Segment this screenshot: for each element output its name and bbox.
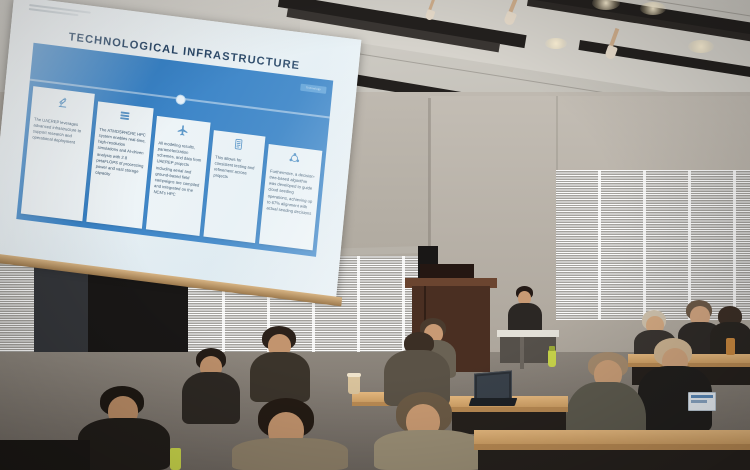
window-blinds-right — [556, 170, 750, 320]
slide-card: The UAEREP leverages advanced infrastruc… — [21, 86, 95, 221]
desk-row-front — [474, 430, 750, 444]
server-stack-icon — [117, 109, 132, 128]
name-badge — [688, 392, 716, 411]
slide-surface: TECHNOLOGICAL INFRASTRUCTURE Technology — [0, 0, 361, 301]
attendee-body — [182, 372, 240, 424]
document-checklist-icon — [232, 138, 245, 155]
slide-card-text: Furthermore, a decision-tree-based algor… — [266, 168, 316, 217]
room-scene: TECHNOLOGICAL INFRASTRUCTURE Technology — [0, 0, 750, 470]
coffee-cup-lid — [347, 373, 361, 377]
slide-card: Furthermore, a decision-tree-based algor… — [259, 144, 322, 250]
laptop-base[interactable] — [469, 398, 518, 406]
speaker-body — [508, 303, 542, 333]
slide-corner-badge: Technology — [300, 84, 326, 94]
attendee-body — [374, 430, 484, 470]
microscope-icon — [55, 95, 70, 114]
head-table — [497, 330, 559, 337]
slide-logo — [28, 4, 90, 20]
water-bottle — [170, 448, 181, 470]
attendee-body — [250, 352, 310, 402]
slide-card-text: The ATMOSPHERE HPC system enables real-t… — [95, 127, 147, 182]
orange-bottle — [726, 338, 735, 355]
slide-corner-badge-label: Technology — [300, 84, 326, 94]
coffee-cup — [348, 376, 360, 394]
slide-card: The ATMOSPHERE HPC system enables real-t… — [86, 101, 153, 228]
attendee-body — [232, 438, 348, 470]
slide-card-text: This allows for consistent testing and r… — [213, 154, 259, 184]
attendee-body — [78, 418, 170, 470]
podium-monitor — [420, 264, 474, 278]
projection-screen: TECHNOLOGICAL INFRASTRUCTURE Technology — [0, 0, 379, 317]
slide-card-text: All modeling results, parameterization s… — [153, 140, 204, 201]
cycle-nodes-icon — [288, 152, 301, 169]
slide-card-text: The UAEREP leverages advanced infrastruc… — [32, 116, 88, 147]
water-bottle — [548, 350, 556, 367]
slide-card: All modeling results, parameterization s… — [146, 116, 211, 236]
airplane-icon — [175, 123, 190, 142]
slide-card: This allows for consistent testing and r… — [203, 130, 265, 243]
